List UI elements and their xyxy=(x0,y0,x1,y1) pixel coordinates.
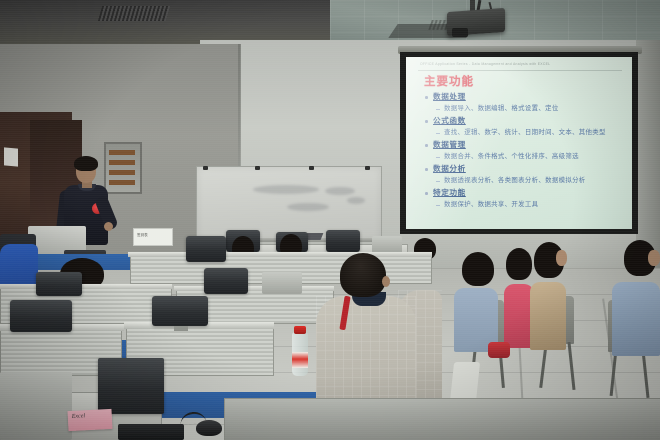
sign-on-desk: 签到表 xyxy=(133,228,173,246)
whiteboard-clip xyxy=(203,166,208,170)
water-bottle-cap xyxy=(294,326,306,334)
whiteboard-marks xyxy=(325,187,355,195)
attendee-tan-jacket-body xyxy=(530,282,566,350)
monitor xyxy=(262,272,302,294)
classroom-photo: OFFICE Application Series - Data Managem… xyxy=(0,0,660,440)
foreground-attendee-head xyxy=(340,253,386,297)
attendee-tan-jacket-face xyxy=(556,250,567,266)
monitor-stand xyxy=(174,326,188,331)
attendee-blue-shirt-body xyxy=(612,282,660,356)
desk-rail xyxy=(174,286,334,291)
desk-sticker-text: Excel xyxy=(72,413,86,420)
monitor xyxy=(36,272,82,296)
mouse[interactable] xyxy=(196,420,222,436)
wall-picture-frame xyxy=(104,142,142,194)
desk-rail xyxy=(128,252,432,257)
monitor xyxy=(152,296,208,326)
attendee-blue-shirt-face xyxy=(648,250,660,266)
folding-chair-back xyxy=(450,362,480,402)
front-monitor-side xyxy=(0,372,72,440)
whiteboard-clip xyxy=(255,166,260,170)
presenter-hair xyxy=(74,156,98,171)
screen-glare xyxy=(406,57,632,229)
whiteboard-marks xyxy=(287,203,329,211)
projection-screen-surface: OFFICE Application Series - Data Managem… xyxy=(406,57,632,229)
ceiling-vent-icon xyxy=(98,6,170,21)
desk-rail xyxy=(0,284,172,289)
attendee-pink-top-head xyxy=(506,248,532,280)
whiteboard-clip xyxy=(365,166,370,170)
monitor xyxy=(10,300,72,332)
wall-notice xyxy=(4,147,18,166)
whiteboard-clip xyxy=(309,166,314,170)
water-bottle-label xyxy=(292,352,308,368)
front-desk-front xyxy=(224,398,660,440)
presenter-hand xyxy=(104,222,113,231)
projector-lens-icon xyxy=(452,28,468,37)
monitor xyxy=(186,236,226,262)
attendee-light-blue-shirt-head xyxy=(462,252,494,286)
monitor xyxy=(326,230,360,252)
monitor xyxy=(204,268,248,294)
desk-sticker: Excel xyxy=(68,409,113,431)
foreground-attendee-ear xyxy=(382,276,390,287)
red-bag xyxy=(488,342,510,358)
whiteboard-marks xyxy=(347,197,365,204)
keyboard[interactable] xyxy=(118,424,184,440)
front-monitor xyxy=(98,358,164,414)
whiteboard-marks xyxy=(253,185,319,194)
sign-text: 签到表 xyxy=(137,233,148,238)
